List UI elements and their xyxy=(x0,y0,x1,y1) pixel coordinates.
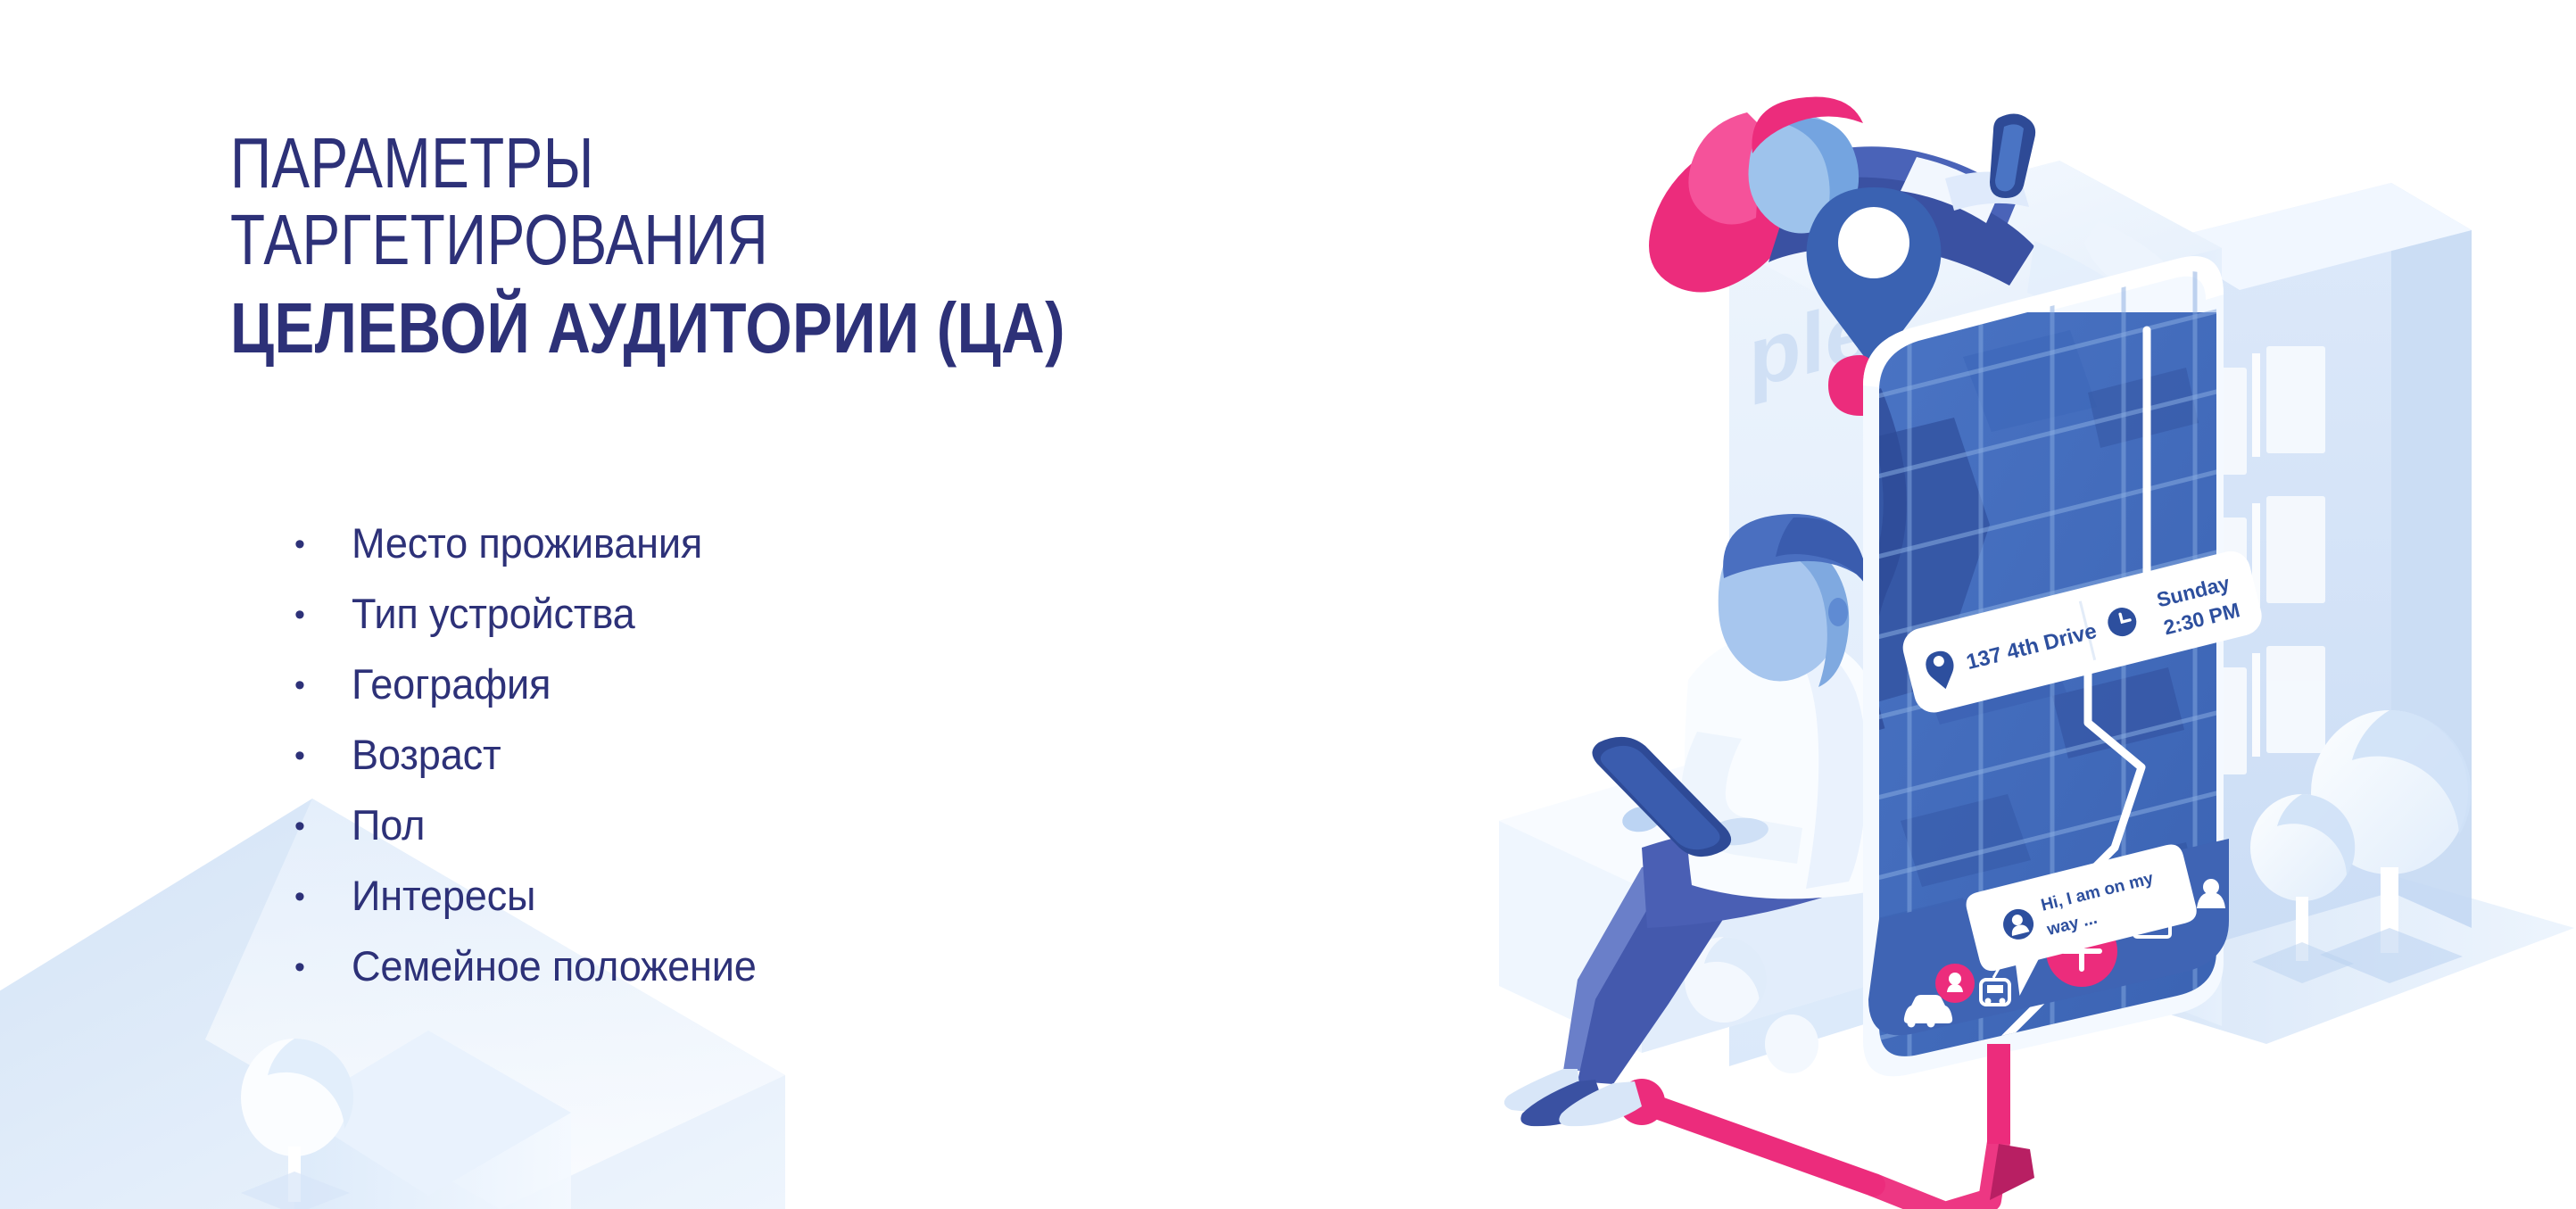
list-item-label: Интересы xyxy=(352,874,535,916)
slide-root: ПАРАМЕТРЫ ТАРГЕТИРОВАНИЯ ЦЕЛЕВОЙ АУДИТОР… xyxy=(0,0,2576,1209)
list-item-label: Место проживания xyxy=(352,522,702,564)
text-column: ПАРАМЕТРЫ ТАРГЕТИРОВАНИЯ ЦЕЛЕВОЙ АУДИТОР… xyxy=(230,125,1435,371)
list-item: • Место проживания xyxy=(294,522,774,592)
bullet-marker-icon: • xyxy=(294,529,352,559)
list-item-label: Пол xyxy=(352,804,425,846)
list-item-label: Возраст xyxy=(352,733,501,775)
list-item: • География xyxy=(294,663,774,733)
title-line-3: ЦЕЛЕВОЙ АУДИТОРИИ (ЦА) xyxy=(230,278,1242,371)
list-item-label: Тип устройства xyxy=(352,592,635,634)
list-item: • Пол xyxy=(294,804,774,874)
navigation-app-illustration: ple xyxy=(1374,18,2576,1209)
bullet-marker-icon: • xyxy=(294,811,352,841)
current-location-marker xyxy=(1935,964,1975,1003)
bullet-marker-icon: • xyxy=(294,882,352,912)
list-item-label: Семейное положение xyxy=(352,945,757,987)
list-item: • Семейное положение xyxy=(294,945,774,1015)
title-line-2: ТАРГЕТИРОВАНИЯ xyxy=(230,202,1194,278)
page-title: ПАРАМЕТРЫ ТАРГЕТИРОВАНИЯ ЦЕЛЕВОЙ АУДИТОР… xyxy=(230,125,1435,371)
title-line-1: ПАРАМЕТРЫ xyxy=(230,125,1194,202)
list-item-label: География xyxy=(352,663,551,705)
bullet-marker-icon: • xyxy=(294,600,352,630)
bullet-marker-icon: • xyxy=(294,952,352,982)
list-item: • Интересы xyxy=(294,874,774,945)
list-item: • Тип устройства xyxy=(294,592,774,663)
targeting-parameters-list: • Место проживания • Тип устройства • Ге… xyxy=(294,522,774,1015)
bullet-marker-icon: • xyxy=(294,670,352,700)
route-line-bottom xyxy=(1619,1079,2034,1209)
list-item: • Возраст xyxy=(294,733,774,804)
bullet-marker-icon: • xyxy=(294,741,352,771)
